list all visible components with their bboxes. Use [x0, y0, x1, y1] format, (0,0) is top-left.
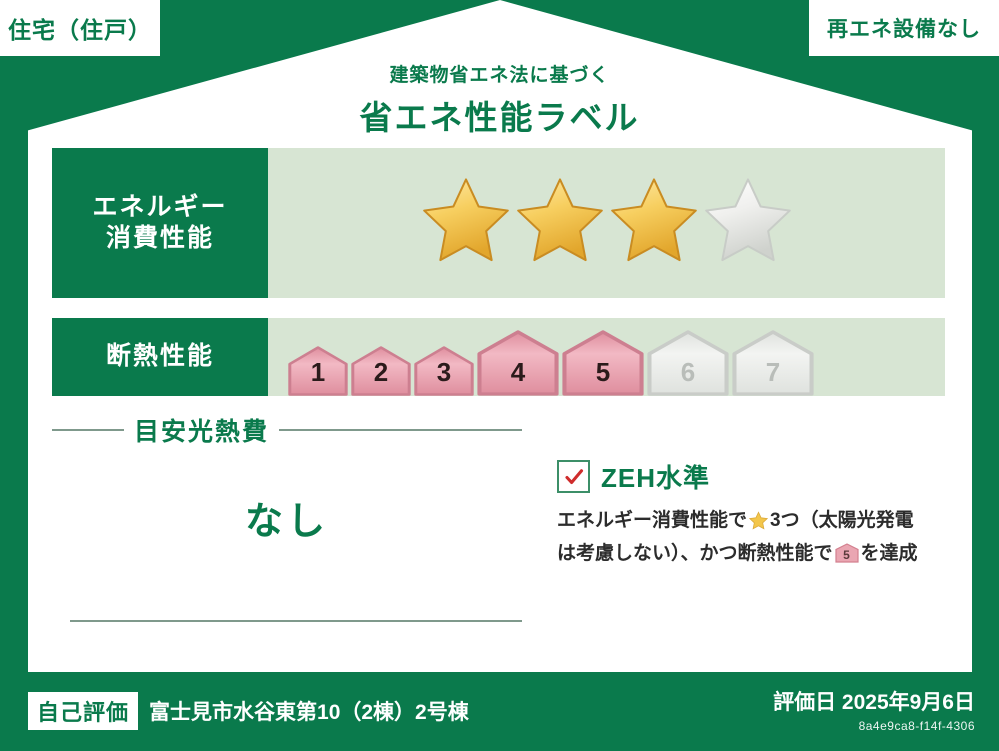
insulation-level-5: 5 [562, 330, 644, 396]
estimated-cost-heading: 目安光熱費 [52, 412, 522, 448]
insulation-level-3: 3 [414, 346, 474, 396]
title-block: 建築物省エネ法に基づく 省エネ性能ラベル [0, 60, 999, 139]
star-icon-empty [704, 175, 792, 268]
footer: 自己評価 富士見市水谷東第10（2棟）2号棟 評価日 2025年9月6日 8a4… [0, 672, 999, 751]
zeh-title: ZEH水準 [601, 458, 710, 495]
property-address: 富士見市水谷東第10（2棟）2号棟 [149, 696, 469, 726]
insulation-performance-label: 断熱性能 [52, 318, 268, 396]
document-id: 8a4e9ca8-f14f-4306 [773, 719, 975, 733]
energy-performance-row: エネルギー 消費性能 [52, 148, 945, 298]
house-icon: 5 [835, 543, 859, 572]
zeh-desc-part2: 3つ（太陽光発電 [770, 510, 914, 531]
star-icon-filled [422, 175, 510, 268]
evaluation-date: 評価日 2025年9月6日 [773, 686, 975, 716]
insulation-level-4: 4 [477, 330, 559, 396]
zeh-desc-part3: は考慮しない）、かつ断熱性能で [557, 543, 833, 564]
title-main: 省エネ性能ラベル [0, 91, 999, 139]
badge-renewable-equipment: 再エネ設備なし [809, 0, 999, 56]
star-icon-filled [610, 175, 698, 268]
zeh-header: ZEH水準 [557, 458, 957, 495]
mid-section: 目安光熱費 なし ZEH水準 エネルギー消費性能で3つ（太陽光発電は考慮しない）… [52, 404, 945, 644]
footer-left: 自己評価 富士見市水谷東第10（2棟）2号棟 [28, 692, 469, 730]
zeh-standard-block: ZEH水準 エネルギー消費性能で3つ（太陽光発電は考慮しない）、かつ断熱性能で5… [557, 458, 957, 573]
badge-house-type: 住宅（住戸） [0, 0, 160, 56]
energy-label-line1: エネルギー [92, 192, 227, 223]
energy-star-rating [268, 148, 945, 298]
house-icon [732, 330, 814, 396]
zeh-description: エネルギー消費性能で3つ（太陽光発電は考慮しない）、かつ断熱性能で5を達成 [557, 506, 957, 573]
star-icon-filled [516, 175, 604, 268]
heading-rule-left [52, 429, 124, 431]
zeh-desc-part4: を達成 [861, 543, 918, 564]
heading-rule-right [279, 429, 522, 431]
house-icon [647, 330, 729, 396]
badge-renewable-label: 再エネ設備なし [827, 13, 981, 43]
check-icon [557, 460, 590, 493]
title-subtitle: 建築物省エネ法に基づく [0, 60, 999, 87]
energy-performance-label: エネルギー 消費性能 [52, 148, 268, 298]
insulation-label-line1: 断熱性能 [106, 341, 214, 372]
house-icon [562, 330, 644, 396]
insulation-level-7: 7 [732, 330, 814, 396]
star-icon [749, 510, 768, 539]
insulation-level-1: 1 [288, 346, 348, 396]
energy-label-line2: 消費性能 [106, 223, 214, 254]
self-evaluation-badge: 自己評価 [28, 692, 138, 730]
house-icon [414, 346, 474, 396]
estimated-cost-heading-text: 目安光熱費 [134, 412, 269, 448]
inline-house-number: 5 [835, 546, 859, 565]
insulation-level-scale: 1234567 [268, 318, 945, 396]
section-divider [70, 620, 522, 622]
house-icon [288, 346, 348, 396]
house-icon [351, 346, 411, 396]
badge-house-type-label: 住宅（住戸） [8, 11, 152, 45]
insulation-performance-row: 断熱性能 1234567 [52, 318, 945, 396]
insulation-level-2: 2 [351, 346, 411, 396]
insulation-level-6: 6 [647, 330, 729, 396]
estimated-cost-value: なし [52, 490, 522, 545]
energy-performance-label: 住宅（住戸） 再エネ設備なし 建築物省エネ法に基づく 省エネ性能ラベル エネルギ… [0, 0, 999, 751]
house-icon [477, 330, 559, 396]
footer-right: 評価日 2025年9月6日 8a4e9ca8-f14f-4306 [773, 686, 975, 733]
zeh-desc-part1: エネルギー消費性能で [557, 510, 747, 531]
